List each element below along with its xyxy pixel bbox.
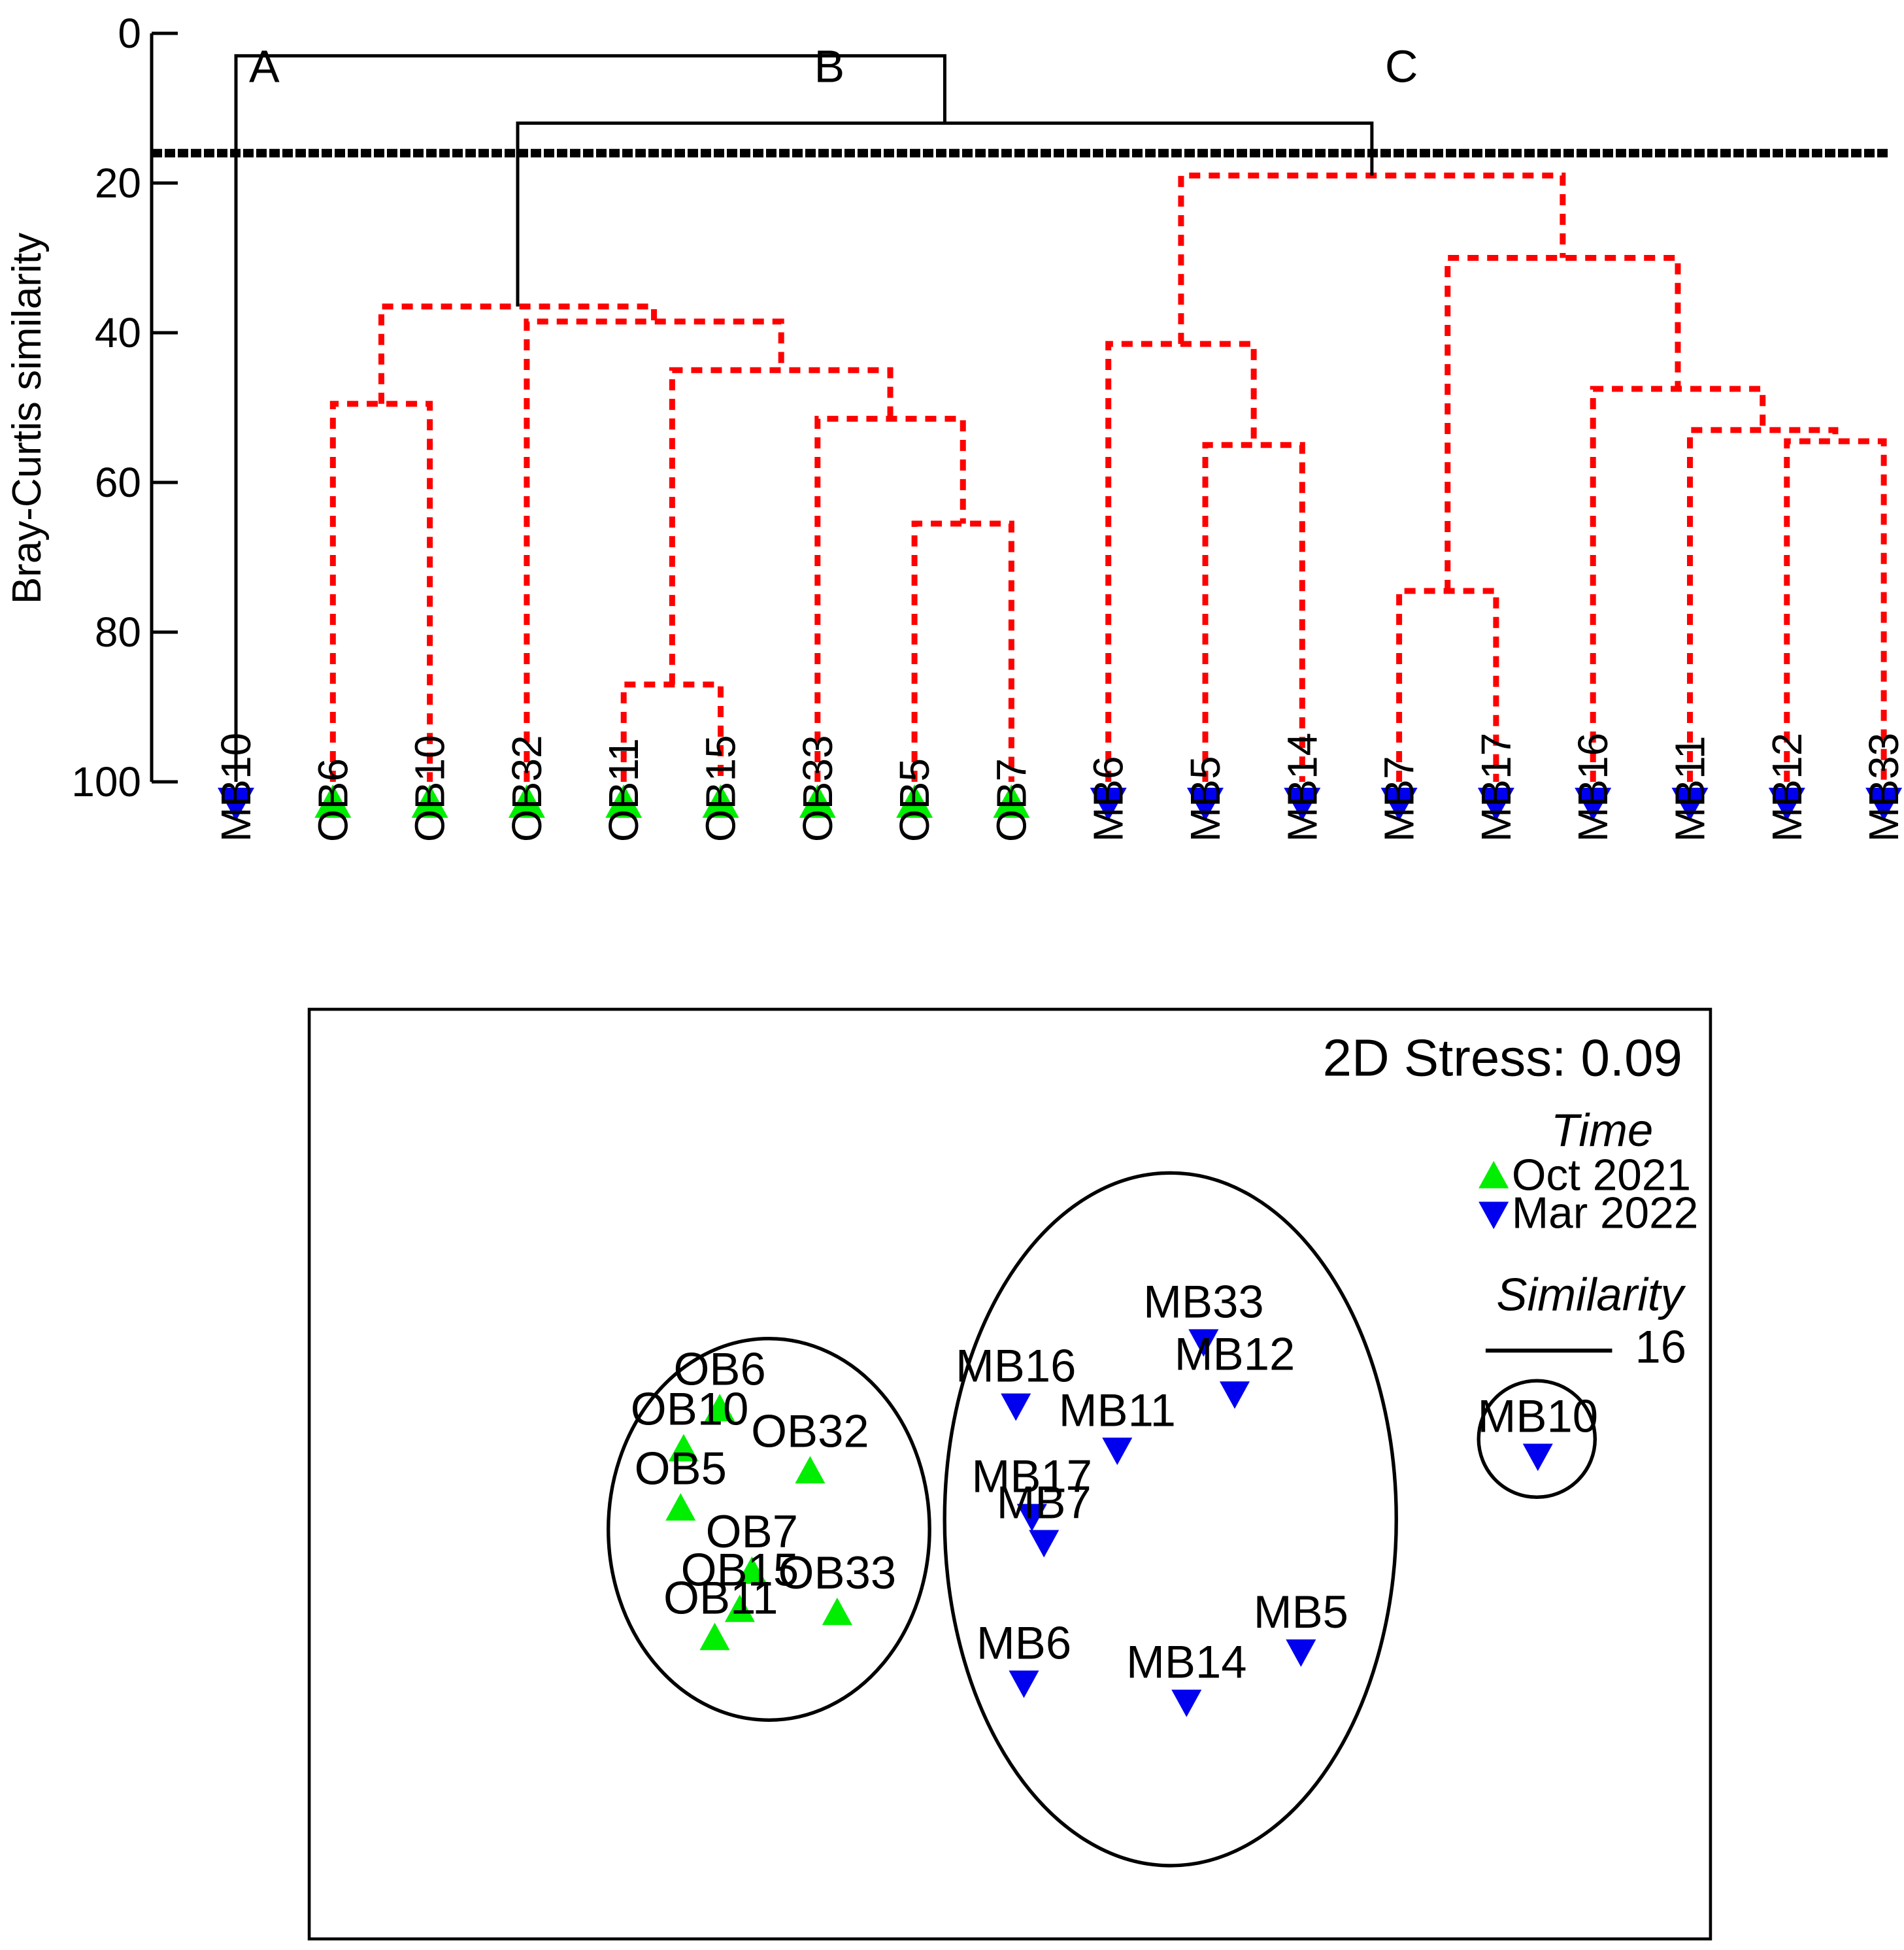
mds-point-label-ob5: OB5 xyxy=(635,1442,727,1494)
mds-point-label-ob11: OB11 xyxy=(663,1572,778,1623)
dendrogram-panel: Bray-Curtis similarity 020406080100 ABC … xyxy=(0,0,1904,1020)
mds-marker-ob32 xyxy=(795,1456,825,1483)
dendrogram-link xyxy=(818,419,963,782)
dendrogram-group-label-b: B xyxy=(814,41,844,92)
mds-marker-ob33 xyxy=(822,1598,852,1625)
leaf-label-ob33: OB33 xyxy=(794,735,841,842)
mds-points: OB6OB10OB32OB5OB7OB15OB33OB11MB33MB12MB1… xyxy=(631,1275,1598,1717)
leaf-label-mb14: MB14 xyxy=(1278,733,1326,842)
leaf-label-mb6: MB6 xyxy=(1085,756,1132,842)
leaf-label-mb7: MB7 xyxy=(1376,756,1423,842)
mds-marker-mb6 xyxy=(1009,1671,1039,1698)
mds-marker-ob11 xyxy=(699,1622,729,1650)
legend-marker-down-triangle-icon xyxy=(1478,1202,1509,1229)
dendrogram-link xyxy=(333,404,429,782)
y-tick-label: 100 xyxy=(71,758,141,805)
mds-marker-mb7 xyxy=(1029,1530,1059,1558)
mds-point-label-ob10: OB10 xyxy=(631,1383,749,1435)
leaf-label-mb16: MB16 xyxy=(1569,733,1616,842)
mds-marker-ob5 xyxy=(665,1493,695,1521)
y-axis: 020406080100 xyxy=(71,10,178,805)
leaf-label-ob11: OB11 xyxy=(600,738,647,842)
mds-point-label-mb14: MB14 xyxy=(1126,1636,1247,1688)
legend-marker-up-triangle-icon xyxy=(1478,1161,1509,1188)
time-legend-title: Time xyxy=(1551,1104,1653,1156)
time-legend-entry-label: Mar 2022 xyxy=(1512,1189,1698,1238)
y-tick-label: 20 xyxy=(95,160,141,207)
mds-point-label-mb7: MB7 xyxy=(997,1477,1092,1528)
dendrogram-group-label-c: C xyxy=(1385,41,1418,92)
y-tick-label: 60 xyxy=(95,459,141,506)
mds-marker-mb16 xyxy=(1001,1394,1031,1421)
mds-marker-mb11 xyxy=(1102,1437,1132,1465)
y-axis-label: Bray-Curtis similarity xyxy=(5,233,50,604)
dendrogram-link xyxy=(1448,258,1678,592)
leaf-label-mb12: MB12 xyxy=(1763,733,1811,842)
dendrogram-link xyxy=(1787,441,1884,782)
dendrogram-group-labels: ABC xyxy=(249,41,1418,92)
similarity-legend-title: Similarity xyxy=(1496,1269,1686,1320)
dendrogram-link xyxy=(1109,344,1254,782)
dendrogram-link xyxy=(527,322,781,782)
leaf-label-ob10: OB10 xyxy=(407,735,454,842)
leaf-label-ob6: OB6 xyxy=(309,758,356,842)
dendrogram-link xyxy=(1181,176,1563,345)
leaf-label-ob15: OB15 xyxy=(697,735,744,842)
dendrogram-link xyxy=(381,307,654,404)
leaf-label-mb33: MB33 xyxy=(1860,733,1904,842)
leaf-label-mb5: MB5 xyxy=(1182,756,1229,842)
leaf-label-ob7: OB7 xyxy=(988,758,1035,842)
dendrogram-link xyxy=(236,56,944,782)
stress-label: 2D Stress: 0.09 xyxy=(1323,1028,1682,1086)
similarity-legend-value: 16 xyxy=(1635,1321,1687,1373)
mds-marker-mb12 xyxy=(1220,1381,1250,1409)
mds-point-label-mb5: MB5 xyxy=(1254,1586,1348,1638)
y-tick-label: 80 xyxy=(95,609,141,656)
dendrogram-links xyxy=(236,56,1884,782)
mds-point-label-mb11: MB11 xyxy=(1059,1384,1176,1436)
leaf-label-ob5: OB5 xyxy=(891,758,938,842)
dendrogram-link xyxy=(1205,445,1302,782)
mds-point-label-ob33: OB33 xyxy=(778,1547,897,1598)
mds-point-label-mb10: MB10 xyxy=(1478,1390,1599,1442)
dendrogram-group-label-a: A xyxy=(249,41,280,92)
figure-root: Bray-Curtis similarity 020406080100 ABC … xyxy=(0,0,1904,1950)
leaf-label-ob32: OB32 xyxy=(503,735,550,842)
y-tick-label: 0 xyxy=(118,10,141,57)
leaf-label-mb11: MB11 xyxy=(1667,736,1714,842)
dendrogram-link xyxy=(1593,389,1763,782)
dendrogram-leaves: MB10OB6OB10OB32OB11OB15OB33OB5OB7MB6MB5M… xyxy=(212,733,1904,842)
mds-point-label-mb12: MB12 xyxy=(1175,1328,1295,1379)
mds-panel: 2D Stress: 0.09 TimeOct 2021Mar 2022Simi… xyxy=(307,1007,1712,1942)
mds-point-label-ob32: OB32 xyxy=(751,1405,869,1457)
leaf-label-mb17: MB17 xyxy=(1473,733,1520,842)
dendrogram-link xyxy=(1690,430,1835,782)
dendrogram-link xyxy=(914,524,1011,782)
mds-marker-mb5 xyxy=(1286,1639,1316,1667)
mds-marker-mb14 xyxy=(1171,1690,1201,1717)
mds-legend: TimeOct 2021Mar 2022Similarity16 xyxy=(1478,1104,1698,1373)
mds-point-label-mb33: MB33 xyxy=(1143,1275,1264,1327)
leaf-label-mb10: MB10 xyxy=(212,733,259,842)
mds-marker-mb10 xyxy=(1523,1443,1553,1471)
mds-point-label-mb6: MB6 xyxy=(977,1617,1071,1669)
y-tick-label: 40 xyxy=(95,309,141,356)
